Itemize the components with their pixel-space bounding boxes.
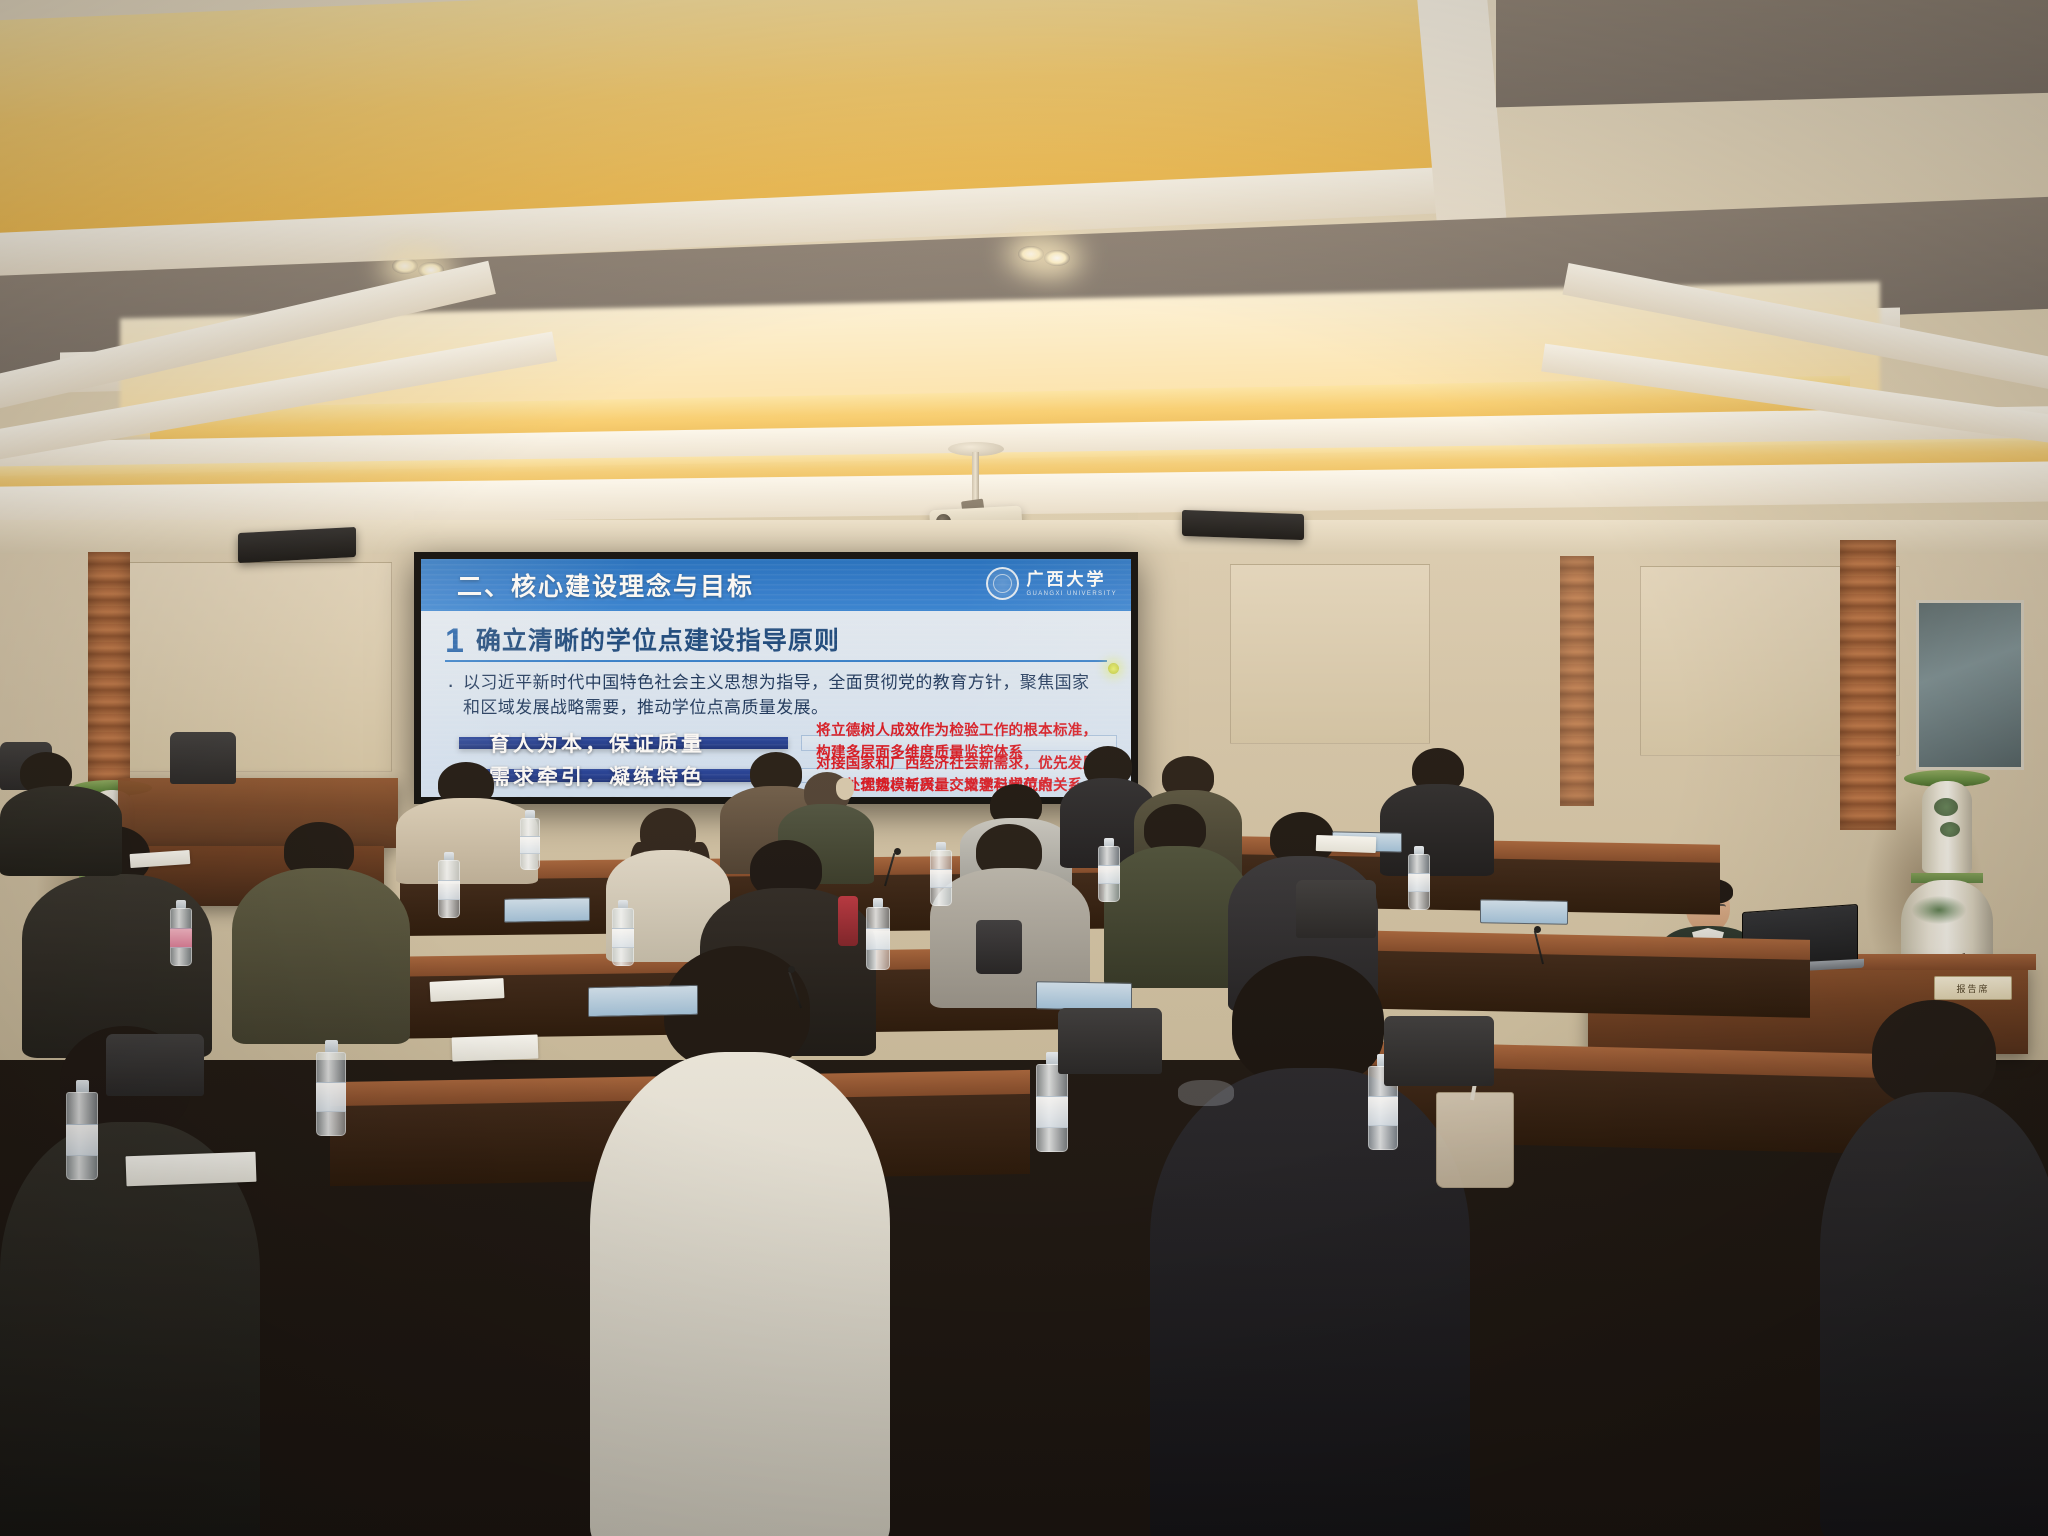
backpack bbox=[976, 920, 1022, 974]
paper-sheet-4[interactable] bbox=[126, 1152, 257, 1187]
paper-sheet-2[interactable] bbox=[430, 978, 505, 1002]
water-bottle[interactable] bbox=[866, 898, 890, 970]
chair-left-1[interactable] bbox=[170, 732, 236, 784]
audience-person-mid-3 bbox=[0, 752, 122, 872]
wall-speaker-left bbox=[238, 527, 356, 563]
slide-accent-dot bbox=[1108, 663, 1119, 674]
water-bottle[interactable] bbox=[170, 900, 192, 966]
person-hair bbox=[1232, 956, 1384, 1086]
chair-center-1[interactable] bbox=[1058, 1008, 1162, 1074]
logo-english-name: GUANGXI UNIVERSITY bbox=[1026, 591, 1117, 597]
chair-left-3[interactable] bbox=[106, 1034, 204, 1096]
bottle-label bbox=[438, 880, 460, 900]
downlight-4 bbox=[1044, 250, 1070, 266]
water-bottle[interactable] bbox=[438, 852, 460, 918]
water-bottle[interactable] bbox=[316, 1040, 346, 1136]
person-jacket bbox=[1150, 1068, 1470, 1536]
slide-bullet-text: 以习近平新时代中国特色社会主义思想为指导，全面贯彻党的教育方针，聚焦国家和区域发… bbox=[463, 671, 1103, 720]
logo-chinese-name: 广西大学 bbox=[1026, 571, 1106, 588]
audience-person-back-1 bbox=[396, 762, 538, 880]
audience-person-back-7 bbox=[1380, 748, 1494, 872]
chair-right-2[interactable] bbox=[1384, 1016, 1494, 1086]
vase-pine-motif bbox=[1934, 798, 1958, 816]
conference-hall-photo: 二、核心建设理念与目标 广西大学 GUANGXI UNIVERSITY 1 确立… bbox=[0, 0, 2048, 1536]
wood-slat-column-mid-right bbox=[1560, 556, 1594, 806]
audience-person-mid-6 bbox=[930, 824, 1090, 1004]
person-jacket bbox=[590, 1052, 890, 1536]
downlight-3 bbox=[1018, 246, 1044, 262]
bottle-label bbox=[1098, 865, 1120, 884]
chair-right-1[interactable] bbox=[1296, 880, 1376, 938]
paper-sheet-3[interactable] bbox=[452, 1035, 539, 1062]
water-bottle[interactable] bbox=[930, 842, 952, 906]
audience-person-front-4 bbox=[1820, 1000, 2048, 1536]
desk-monitor-2[interactable] bbox=[588, 985, 698, 1017]
person-jacket bbox=[0, 786, 122, 876]
slide-title: 二、核心建设理念与目标 bbox=[457, 567, 754, 603]
room-placard-right-text: 报告席 bbox=[1956, 982, 1989, 995]
water-bottle[interactable] bbox=[66, 1080, 98, 1180]
university-seal-icon bbox=[986, 567, 1019, 600]
bottle-label bbox=[930, 869, 952, 888]
microphone-head bbox=[894, 848, 901, 855]
wall-panel-center-right bbox=[1230, 564, 1430, 744]
bottle-label bbox=[66, 1124, 98, 1156]
ceiling bbox=[0, 0, 2048, 560]
water-bottle[interactable] bbox=[1408, 846, 1430, 910]
bottle-label bbox=[1408, 873, 1430, 892]
thermos-bottle[interactable] bbox=[838, 896, 858, 946]
microphone-head bbox=[788, 966, 795, 973]
vase-pine-motif bbox=[1940, 822, 1960, 837]
desk-monitor-1[interactable] bbox=[504, 897, 590, 923]
room-placard-right: 报告席 bbox=[1934, 976, 2012, 1000]
bottle-label bbox=[1036, 1096, 1068, 1128]
bottle-label bbox=[1368, 1096, 1398, 1126]
principle-row: 育人为本，保证质量 将立德树人成效作为检验工作的根本标准，构建多层面多维度质量监… bbox=[459, 735, 1117, 751]
person-glasses bbox=[1178, 1080, 1234, 1106]
bottle-label bbox=[170, 928, 192, 948]
projector-rod bbox=[972, 452, 979, 506]
audience-person-mid-1 bbox=[232, 822, 410, 1042]
principle-label: 育人为本，保证质量 bbox=[489, 728, 705, 758]
bottle-label bbox=[866, 928, 890, 950]
bottle-label bbox=[520, 836, 540, 854]
section-heading: 确立清晰的学位点建设指导原则 bbox=[476, 621, 840, 657]
downlight-1 bbox=[392, 258, 418, 274]
slide-section-row: 1 确立清晰的学位点建设指导原则 bbox=[445, 621, 1107, 662]
water-bottle[interactable] bbox=[1098, 838, 1120, 902]
wall-speaker-right bbox=[1182, 510, 1304, 540]
audience-person-front-1 bbox=[590, 946, 890, 1536]
desk-monitor-3[interactable] bbox=[1036, 981, 1132, 1011]
glass-door-right[interactable] bbox=[1916, 600, 2024, 770]
paper-sheet-5[interactable] bbox=[1316, 835, 1377, 853]
person-hair-tie bbox=[836, 778, 854, 800]
water-bottle[interactable] bbox=[612, 900, 634, 966]
audience-person-front-3 bbox=[0, 1026, 260, 1536]
microphone-head bbox=[1534, 926, 1541, 933]
vase-landscape-panel bbox=[1912, 896, 1966, 924]
person-jacket bbox=[1820, 1092, 2048, 1536]
ceiling-soffit-right bbox=[1496, 0, 2048, 107]
wall-panel-left-1 bbox=[92, 562, 392, 772]
drink-cup[interactable] bbox=[1436, 1092, 1514, 1188]
water-bottle[interactable] bbox=[520, 810, 540, 870]
person-jacket bbox=[232, 868, 410, 1044]
desk-monitor-4[interactable] bbox=[1480, 899, 1568, 925]
bottle-label bbox=[612, 928, 634, 948]
bottle-label bbox=[316, 1082, 346, 1112]
university-logo: 广西大学 GUANGXI UNIVERSITY bbox=[986, 567, 1117, 600]
person-hair bbox=[1872, 1000, 1996, 1106]
person-jacket bbox=[1380, 784, 1494, 876]
slide-header: 二、核心建设理念与目标 广西大学 GUANGXI UNIVERSITY bbox=[421, 559, 1131, 611]
person-jacket bbox=[396, 798, 538, 884]
principle-chevron: 育人为本，保证质量 bbox=[459, 737, 788, 750]
section-number: 1 bbox=[445, 626, 464, 657]
